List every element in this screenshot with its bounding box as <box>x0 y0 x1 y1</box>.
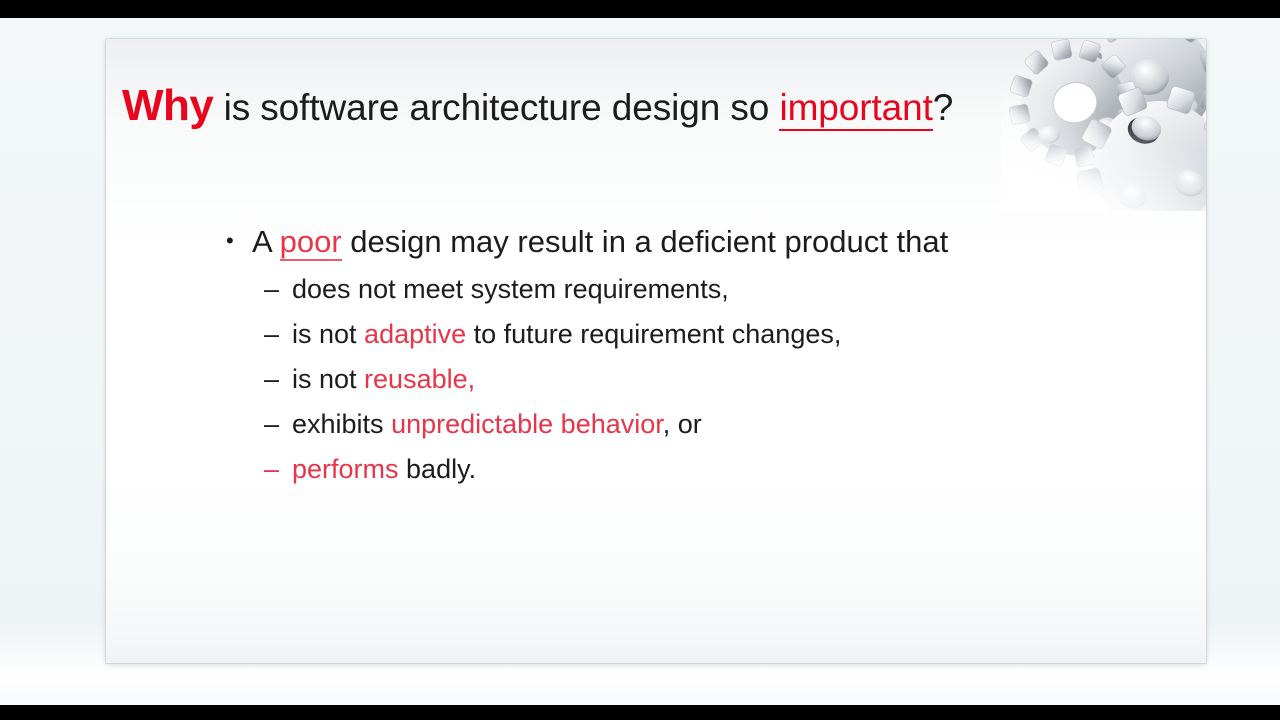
sub-bullet-highlight: reusable, <box>364 364 475 394</box>
letterbox-bottom-bar <box>0 705 1280 720</box>
sub-bullet: –is not reusable, <box>224 357 1154 402</box>
slide-body: •A poor design may result in a deficient… <box>224 219 1154 492</box>
title-middle-text: is software architecture design so <box>213 87 779 128</box>
title-trailing-text: ? <box>933 87 953 128</box>
sub-bullet-text: exhibits <box>292 409 391 439</box>
sub-bullet-text: , or <box>663 409 702 439</box>
sub-bullet-marker: – <box>264 447 279 492</box>
bullet-marker: • <box>226 218 234 264</box>
sub-bullet: –performs badly. <box>224 447 1154 492</box>
sub-bullet-marker: – <box>264 267 279 312</box>
sub-bullet-text: is not <box>292 319 364 349</box>
sub-bullet-text: badly. <box>399 454 477 484</box>
sub-bullet-highlight: adaptive <box>364 319 466 349</box>
title-highlight-word: important <box>779 87 932 131</box>
main-bullet-lead: A <box>252 224 280 259</box>
sub-bullet-highlight: unpredictable behavior <box>391 409 663 439</box>
slide-title: Why is software architecture design so i… <box>122 84 1022 130</box>
gears-icon <box>1001 39 1206 211</box>
sub-bullet-highlight: performs <box>292 454 399 484</box>
sub-bullet-list: –does not meet system requirements,–is n… <box>224 267 1154 492</box>
sub-bullet-text: to future requirement changes, <box>466 319 841 349</box>
sub-bullet: –is not adaptive to future requirement c… <box>224 312 1154 357</box>
main-bullet-rest: design may result in a deficient product… <box>342 224 949 259</box>
gear-fade-overlay <box>1001 39 1206 211</box>
main-bullet: •A poor design may result in a deficient… <box>224 219 1154 265</box>
sub-bullet: –exhibits unpredictable behavior, or <box>224 402 1154 447</box>
sub-bullet-text: is not <box>292 364 364 394</box>
slide-card: Why is software architecture design so i… <box>106 39 1206 663</box>
letterbox-top-bar <box>0 0 1280 18</box>
sub-bullet-marker: – <box>264 402 279 447</box>
title-emphasis-word: Why <box>122 81 213 130</box>
sub-bullet-text: does not meet system requirements, <box>292 274 729 304</box>
sub-bullet-marker: – <box>264 312 279 357</box>
presentation-stage: Why is software architecture design so i… <box>0 18 1280 705</box>
sub-bullet: –does not meet system requirements, <box>224 267 1154 312</box>
main-bullet-highlight: poor <box>280 224 342 261</box>
video-viewport: Why is software architecture design so i… <box>0 0 1280 720</box>
sub-bullet-marker: – <box>264 357 279 402</box>
